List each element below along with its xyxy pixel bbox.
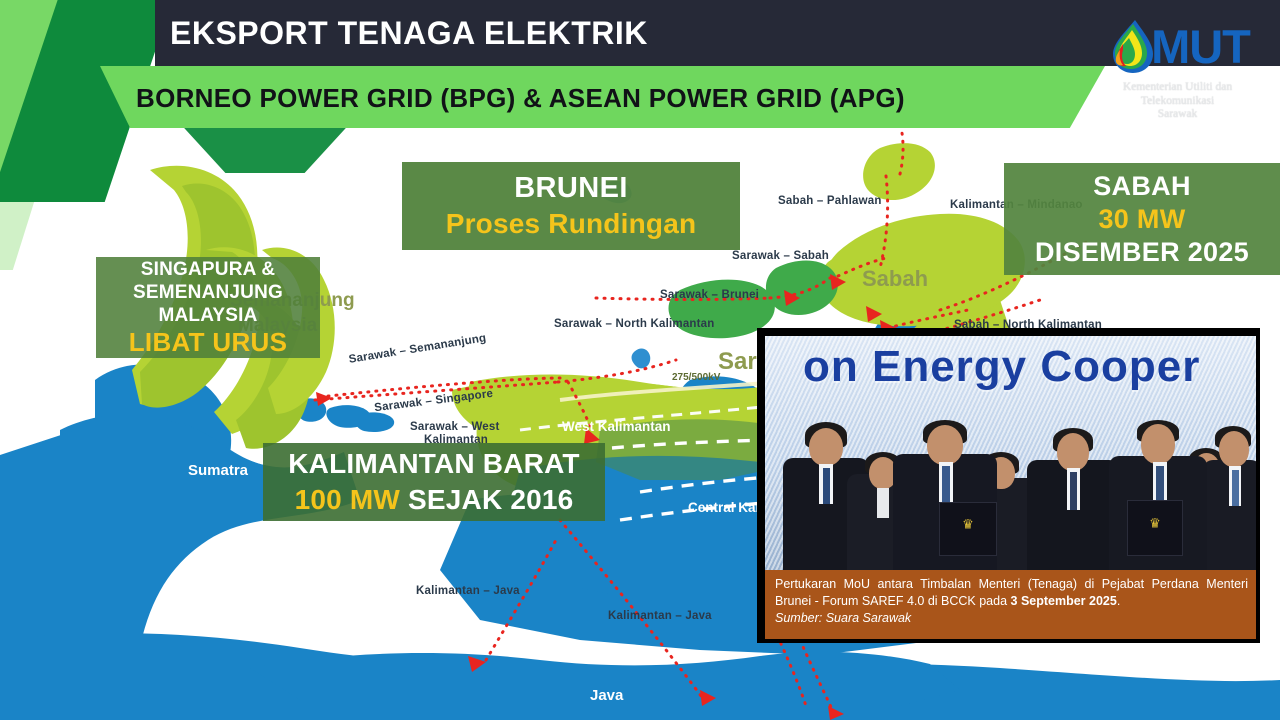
page-title: EKSPORT TENAGA ELEKTRIK [170,10,930,56]
caption-line2-b: . [1117,594,1120,608]
region-label-sabah: Sabah [862,266,928,292]
mut-logo: MUT Kementerian Utiliti dan Telekomunika… [1085,14,1270,126]
slide-root: Semananjung Malaysia Sumatra Java Sarawa… [0,0,1280,720]
callout-brunei-title: BRUNEI [410,171,732,206]
map-label-sarawak-sabah: Sarawak – Sabah [732,250,829,262]
callout-brunei-status: Proses Rundingan [410,206,732,241]
callout-kalbar-capacity: 100 MW [295,484,400,515]
map-label-sabah-pahlawan: Sabah – Pahlawan [778,195,882,207]
callout-singapura-line2: SEMENANJUNG [104,281,312,304]
crest-icon: ♛ [1149,516,1161,529]
caption-date: 3 September 2025 [1011,594,1117,608]
callout-sabah-title: SABAH [1012,170,1272,203]
callout-singapura-status: LIBAT URUS [104,327,312,357]
logo-subtitle-line3: Sarawak [1085,108,1270,122]
callout-brunei: BRUNEI Proses Rundingan [402,162,740,250]
photo-people-group: ♛ [765,420,1256,570]
photo-person [1203,424,1256,570]
region-label-voltage: 275/500kV [672,372,720,383]
region-label-west-kalimantan: West Kalimantan [562,419,671,434]
callout-kalbar-title: KALIMANTAN BARAT [271,446,597,482]
callout-kalbar-since: SEJAK 2016 [408,484,573,515]
photo-person-signer-left: ♛ [893,420,997,570]
caption-source: Sumber: Suara Sarawak [775,610,1248,627]
mou-folder: ♛ [939,502,997,556]
callout-singapura-line1: SINGAPURA & [104,258,312,281]
map-label-sarawak-brunei: Sarawak – Brunei [660,289,759,301]
map-label-sarawak-west: Sarawak – West [410,421,500,433]
callout-sabah-date: DISEMBER 2025 [1012,236,1272,269]
photo-person-signer-right: ♛ [1109,420,1207,570]
mou-photo: on Energy Cooper [765,336,1256,570]
map-label-kalimantan-java-1: Kalimantan – Java [416,585,520,597]
region-label-sumatra: Sumatra [188,462,248,479]
region-label-central-kalimantan: Central Kal [688,500,759,515]
photo-person [1027,424,1119,570]
logo-subtitle-line2: Telekomunikasi [1085,95,1270,109]
mou-folder: ♛ [1127,500,1183,556]
crest-icon: ♛ [962,517,974,530]
flame-droplet-icon [1105,18,1155,76]
callout-singapura-line3: MALAYSIA [104,304,312,327]
page-subtitle: BORNEO POWER GRID (BPG) & ASEAN POWER GR… [136,78,1036,118]
mou-photo-frame: on Energy Cooper [757,328,1260,643]
callout-singapura-semenanjung: SINGAPURA & SEMENANJUNG MALAYSIA LIBAT U… [96,257,320,358]
map-label-sarawak-north-kalimantan: Sarawak – North Kalimantan [554,318,715,330]
callout-sabah-capacity: 30 MW [1012,203,1272,236]
map-label-kalimantan-java-2: Kalimantan – Java [608,610,712,622]
caption-line1: Pertukaran MoU antara Timbalan Menteri (… [775,577,1199,591]
led-screen-text: on Energy Cooper [803,342,1200,392]
logo-subtitle-line1: Kementerian Utiliti dan [1085,81,1270,95]
photo-caption: Pertukaran MoU antara Timbalan Menteri (… [765,570,1256,639]
callout-sabah: SABAH 30 MW DISEMBER 2025 [1004,163,1280,275]
callout-kalimantan-barat: KALIMANTAN BARAT 100 MW SEJAK 2016 [263,443,605,521]
region-label-java: Java [590,687,623,704]
callout-kalbar-detail: 100 MW SEJAK 2016 [271,482,597,518]
logo-wordmark: MUT [1151,18,1250,76]
